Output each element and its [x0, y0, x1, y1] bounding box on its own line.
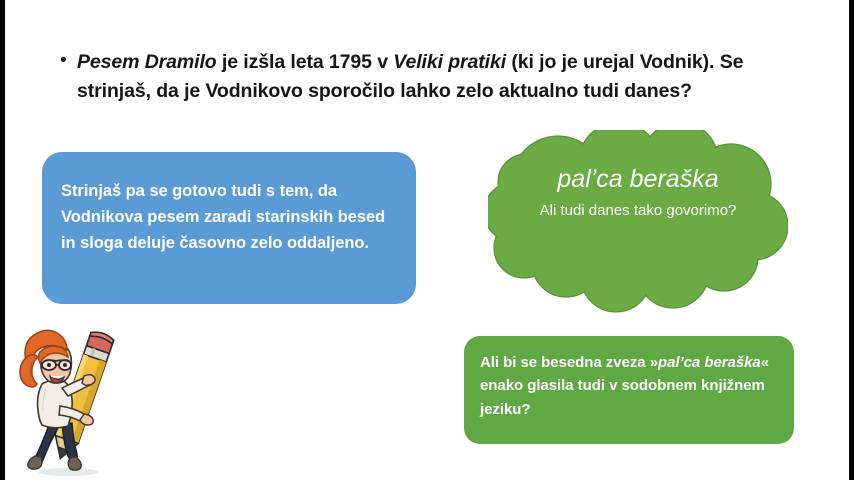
cloud-question-subtitle: Ali tudi danes tako govorimo? — [522, 200, 754, 222]
bullet-marker: • — [60, 51, 67, 70]
green-text-segment-1: Ali bi se besedna zveza » — [480, 354, 658, 371]
cartoon-character-illustration — [6, 326, 136, 478]
green-phrase-italic: pal’ca beraška — [658, 354, 761, 371]
green-question-box: Ali bi se besedna zveza »pal’ca beraška«… — [464, 336, 794, 444]
bullet-title-italic-2: Veliki pratiki — [393, 51, 506, 73]
cloud-phrase-title: pal’ca beraška — [488, 166, 788, 194]
blue-statement-box: Strinjaš pa se gotovo tudi s tem, da Vod… — [42, 152, 416, 304]
bullet-text-segment-2: je izšla leta 1795 v — [217, 51, 394, 73]
green-box-text: Ali bi se besedna zveza »pal’ca beraška«… — [480, 351, 778, 421]
bullet-title-italic-1: Pesem Dramilo — [77, 51, 217, 73]
bullet-text-line: Pesem Dramilo je izšla leta 1795 v Velik… — [77, 48, 785, 105]
blue-box-text: Strinjaš pa se gotovo tudi s tem, da Vod… — [61, 178, 394, 256]
green-cloud-callout: pal’ca beraška Ali tudi danes tako govor… — [488, 130, 788, 315]
letterbox-bar-left — [0, 0, 5, 480]
woman-with-pencil-icon — [6, 326, 136, 478]
cloud-text-container: pal’ca beraška Ali tudi danes tako govor… — [488, 130, 788, 315]
bullet-paragraph: • Pesem Dramilo je izšla leta 1795 v Vel… — [60, 48, 785, 105]
letterbox-bar-right — [849, 0, 854, 480]
slide-canvas: • Pesem Dramilo je izšla leta 1795 v Vel… — [0, 0, 854, 480]
